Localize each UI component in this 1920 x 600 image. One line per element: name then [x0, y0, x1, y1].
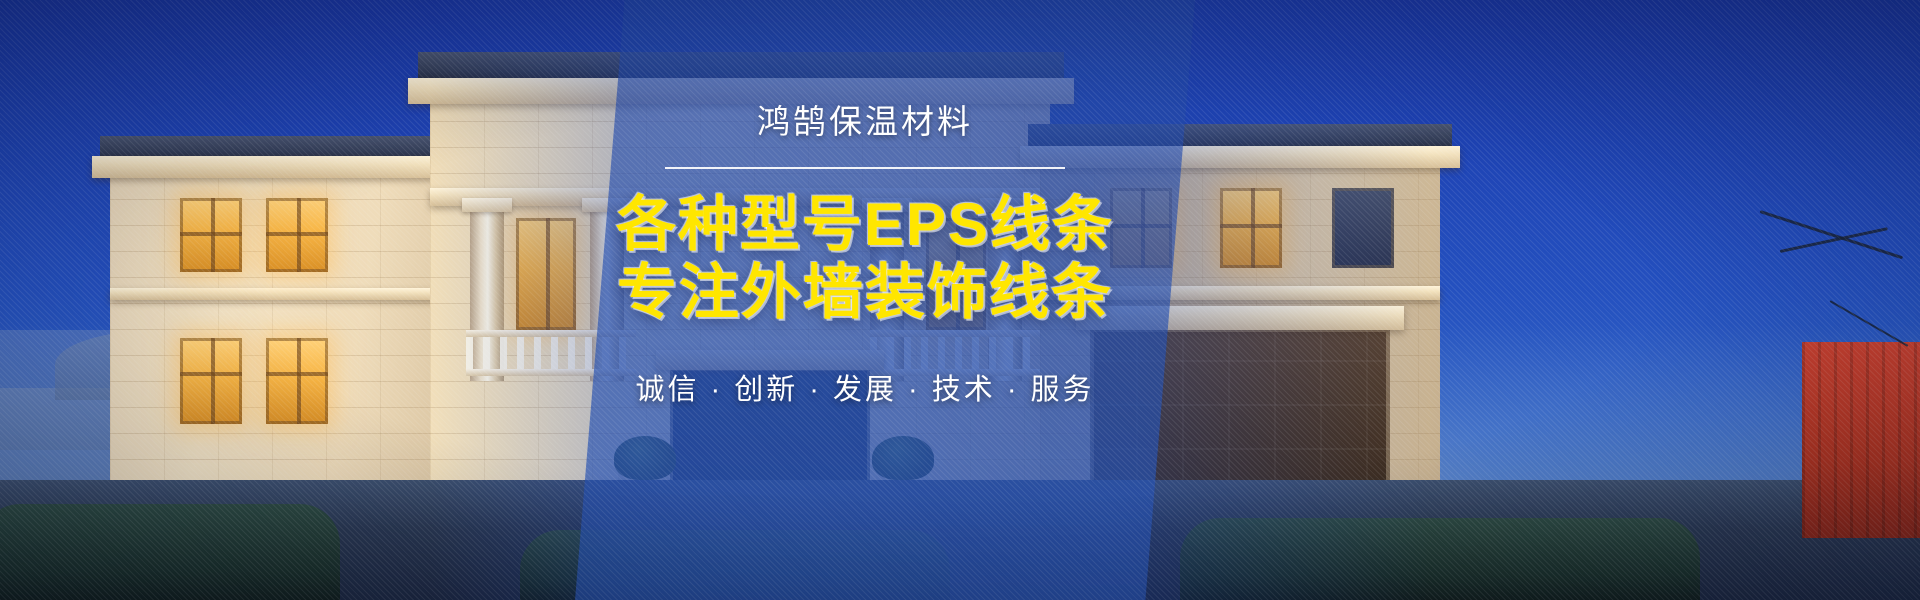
- left-wing-band: [110, 288, 440, 300]
- red-container: [1802, 342, 1920, 538]
- banner-copy: 鸿鹄保温材料 各种型号EPS线条 专注外墙装饰线条 诚信 · 创新 · 发展 ·…: [585, 95, 1145, 408]
- window-left-lower-2: [266, 338, 328, 424]
- window-left-upper-1: [180, 198, 242, 272]
- hedge-left: [0, 504, 340, 600]
- headline-line-2: 专注外墙装饰线条: [585, 259, 1145, 327]
- left-wing-cornice: [92, 156, 458, 178]
- window-left-lower-1: [180, 338, 242, 424]
- tagline: 诚信 · 创新 · 发展 · 技术 · 服务: [585, 366, 1145, 408]
- brand-name: 鸿鹄保温材料: [585, 95, 1145, 143]
- hero-banner: 鸿鹄保温材料 各种型号EPS线条 专注外墙装饰线条 诚信 · 创新 · 发展 ·…: [0, 0, 1920, 600]
- headline-line-1: 各种型号EPS线条: [585, 191, 1145, 259]
- window-left-upper-2: [266, 198, 328, 272]
- divider-rule: [665, 167, 1065, 169]
